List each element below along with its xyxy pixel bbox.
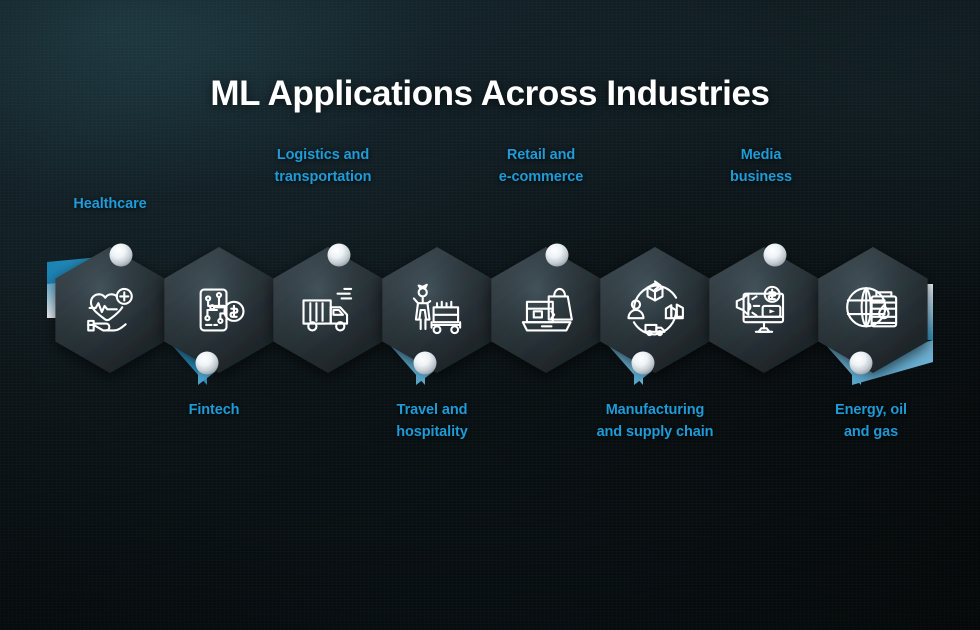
node-label: Logistics and transportation: [275, 144, 372, 188]
hex-node[interactable]: [273, 247, 382, 373]
hex-tile-glow: [600, 247, 709, 373]
hex-node[interactable]: [382, 247, 491, 373]
connector-sphere: [110, 244, 133, 267]
hex-tile-glow: [164, 247, 273, 373]
node-label: Media business: [730, 144, 792, 188]
connector-sphere: [546, 244, 569, 267]
connector-sphere: [414, 352, 437, 375]
hex-nodes: [55, 247, 927, 373]
connector-sphere: [632, 352, 655, 375]
hex-tile-glow: [382, 247, 491, 373]
hex-node[interactable]: [55, 247, 164, 373]
node-label: Retail and e-commerce: [499, 144, 583, 188]
hex-tile-glow: [273, 247, 382, 373]
hex-node[interactable]: [600, 247, 709, 373]
hex-node[interactable]: [164, 247, 273, 373]
hex-tile-glow: [709, 247, 818, 373]
connector-sphere: [764, 244, 787, 267]
node-label: Travel and hospitality: [396, 399, 467, 443]
connector-sphere: [328, 244, 351, 267]
node-label: Healthcare: [73, 193, 146, 215]
infographic-canvas: HealthcareFintechLogistics and transport…: [0, 0, 980, 630]
node-label: Energy, oil and gas: [835, 399, 907, 443]
page-title: ML Applications Across Industries: [0, 74, 980, 114]
hex-node[interactable]: [709, 247, 818, 373]
hex-tile-glow: [491, 247, 600, 373]
connector-sphere: [850, 352, 873, 375]
node-label: Manufacturing and supply chain: [597, 399, 714, 443]
connector-sphere: [196, 352, 219, 375]
hex-node[interactable]: [491, 247, 600, 373]
node-label: Fintech: [189, 399, 240, 421]
hex-node[interactable]: [818, 247, 927, 373]
hex-tile-glow: [818, 247, 927, 373]
